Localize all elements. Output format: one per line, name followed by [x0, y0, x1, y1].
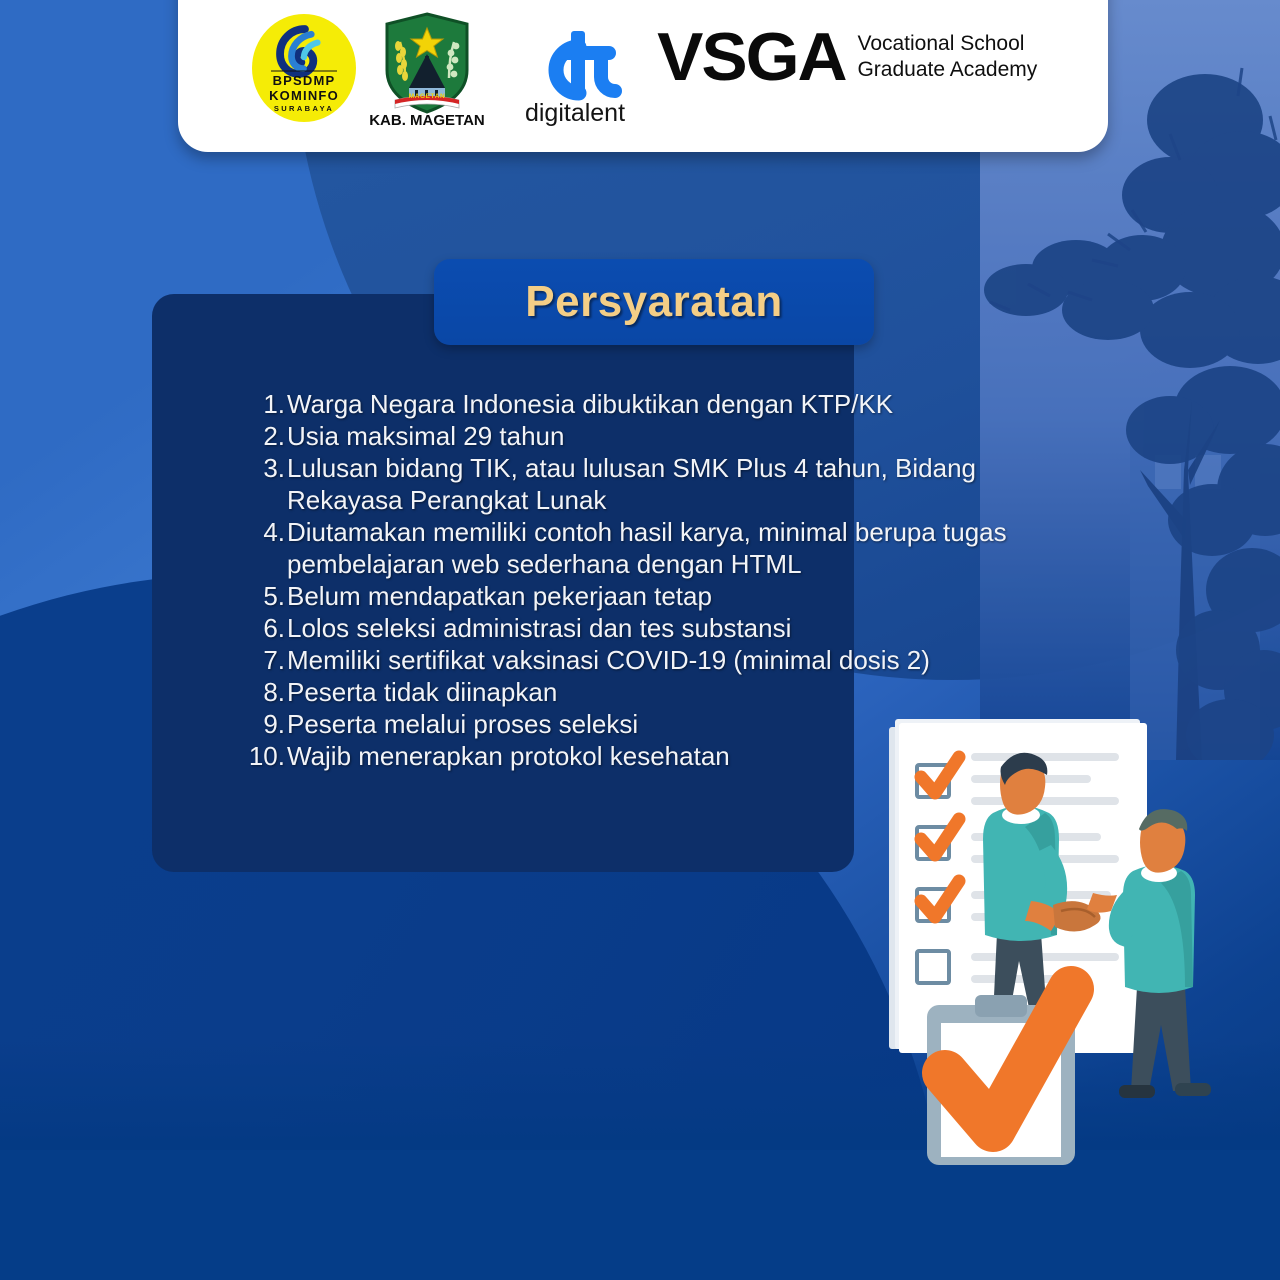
requirement-item: 5.Belum mendapatkan pekerjaan tetap [152, 580, 1032, 612]
requirement-item: 1.Warga Negara Indonesia dibuktikan deng… [152, 388, 1032, 420]
requirement-number: 6. [152, 612, 287, 644]
requirement-number: 7. [152, 644, 287, 676]
header-logo-card: BPSDMP KOMINFO SURABAYA [178, 0, 1108, 152]
requirement-item: 7.Memiliki sertifikat vaksinasi COVID-19… [152, 644, 1032, 676]
requirement-number: 2. [152, 420, 287, 452]
digitalent-logo: digitalent [505, 9, 645, 127]
requirement-number: 1. [152, 388, 287, 420]
requirement-number: 5. [152, 580, 287, 612]
requirement-number: 10. [152, 740, 287, 772]
requirement-item: 8.Peserta tidak diinapkan [152, 676, 1032, 708]
requirement-text: Peserta tidak diinapkan [287, 676, 1027, 708]
bpsdmp-kominfo-surabaya-logo: BPSDMP KOMINFO SURABAYA [249, 13, 359, 123]
checklist-handshake-illustration [875, 705, 1225, 1175]
title-banner: Persyaratan [434, 259, 874, 345]
vsga-logo: VSGA Vocational School Graduate Academy [659, 23, 1038, 91]
requirement-item: 4.Diutamakan memiliki contoh hasil karya… [152, 516, 1032, 580]
requirement-text: Memiliki sertifikat vaksinasi COVID-19 (… [287, 644, 1027, 676]
requirement-text: Warga Negara Indonesia dibuktikan dengan… [287, 388, 1027, 420]
kominfo-line2: KOMINFO [269, 88, 339, 103]
logo-row: BPSDMP KOMINFO SURABAYA [249, 8, 1038, 128]
requirement-text: Belum mendapatkan pekerjaan tetap [287, 580, 1027, 612]
requirement-text: Lolos seleksi administrasi dan tes subst… [287, 612, 1027, 644]
magetan-caption: KAB. MAGETAN [369, 112, 485, 128]
vsga-wordmark: VSGA [657, 23, 845, 91]
requirement-item: 6.Lolos seleksi administrasi dan tes sub… [152, 612, 1032, 644]
kominfo-line3: SURABAYA [274, 104, 334, 113]
kominfo-line1: BPSDMP [272, 73, 335, 88]
requirement-item: 2.Usia maksimal 29 tahun [152, 420, 1032, 452]
page-title: Persyaratan [525, 277, 782, 327]
requirement-text: Usia maksimal 29 tahun [287, 420, 1027, 452]
requirement-text: Lulusan bidang TIK, atau lulusan SMK Plu… [287, 452, 1027, 516]
vsga-subtitle: Vocational School Graduate Academy [857, 31, 1037, 84]
requirement-number: 3. [152, 452, 287, 484]
requirement-number: 8. [152, 676, 287, 708]
magetan-shield-text: MAGETAN [408, 93, 445, 100]
vsga-subtitle-line2: Graduate Academy [857, 57, 1037, 83]
requirement-number: 9. [152, 708, 287, 740]
digitalent-wordmark: digitalent [525, 99, 625, 127]
requirement-text: Diutamakan memiliki contoh hasil karya, … [287, 516, 1027, 580]
kab-magetan-logo: MAGETAN KAB. MAGETAN [367, 8, 487, 128]
clipboard-big-checkmark [927, 989, 1075, 1165]
requirement-item: 3.Lulusan bidang TIK, atau lulusan SMK P… [152, 452, 1032, 516]
requirement-number: 4. [152, 516, 287, 548]
vsga-subtitle-line1: Vocational School [857, 31, 1037, 57]
